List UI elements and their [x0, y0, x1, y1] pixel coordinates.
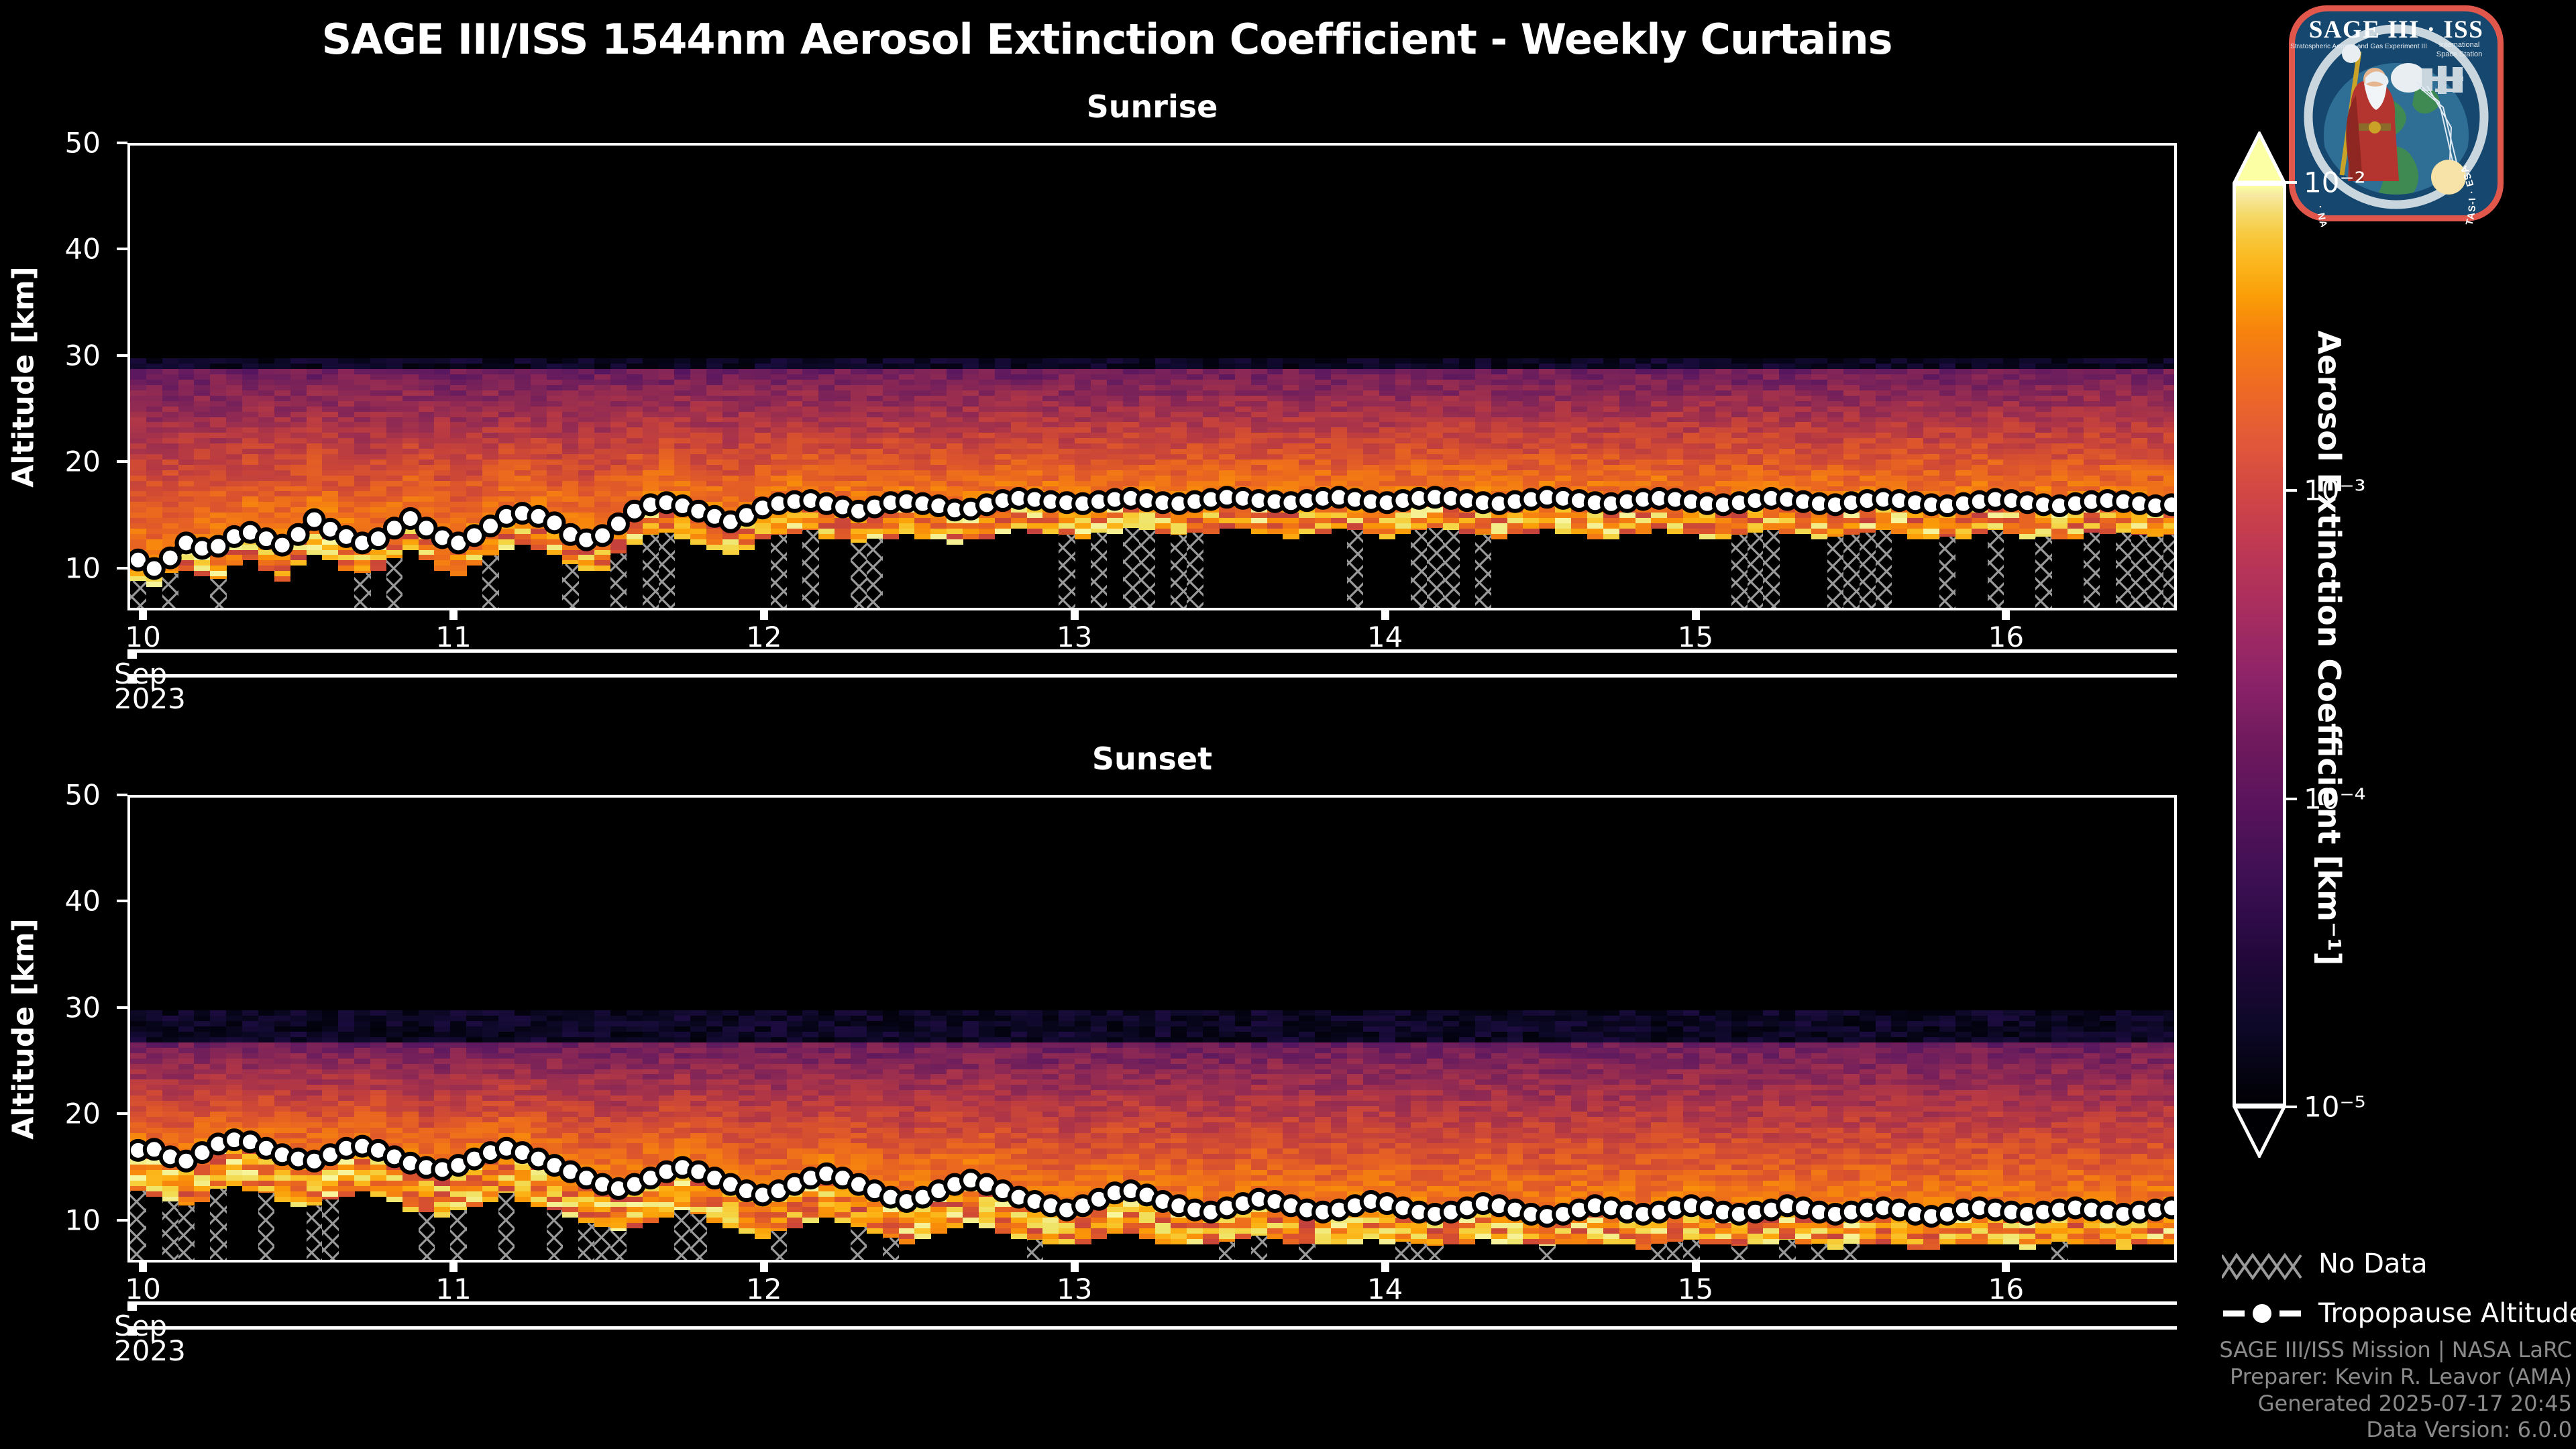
- y-tick-label: 50: [27, 127, 101, 160]
- y-tick-label: 10: [27, 551, 101, 584]
- y-tick-label: 30: [27, 991, 101, 1024]
- x-month-band-line: [127, 649, 2177, 653]
- y-tick-mark: [117, 142, 127, 144]
- patch-title: SAGE III · ISS: [2309, 16, 2484, 44]
- patch-subtitle-right-1: International: [2439, 41, 2480, 49]
- x-tick-label: 10: [125, 621, 160, 653]
- panel-title-sunset: Sunset: [127, 741, 2177, 777]
- y-tick-label: 20: [27, 445, 101, 478]
- y-tick-label: 40: [27, 885, 101, 918]
- y-tick-label: 40: [27, 233, 101, 266]
- x-tick-mark: [2002, 609, 2010, 620]
- y-tick-label: 10: [27, 1203, 101, 1236]
- tropopause-series: [130, 146, 2177, 610]
- page-title: SAGE III/ISS 1544nm Aerosol Extinction C…: [0, 15, 2214, 64]
- y-tick-mark: [117, 1112, 127, 1115]
- y-tick-mark: [117, 900, 127, 902]
- x-year-band-line: [127, 674, 2177, 678]
- patch-subtitle-left: Stratospheric Aerosol and Gas Experiment…: [2290, 43, 2427, 50]
- panel-title-sunrise: Sunrise: [127, 89, 2177, 125]
- x-tick-label: 12: [746, 621, 782, 653]
- x-tick-mark: [1071, 609, 1079, 620]
- x-tick-mark: [760, 609, 768, 620]
- y-tick-label: 20: [27, 1097, 101, 1130]
- x-tick-label: 14: [1367, 621, 1403, 653]
- x-tick-label: 15: [1678, 621, 1713, 653]
- x-tick-label: 16: [1988, 621, 2024, 653]
- y-tick-mark: [117, 794, 127, 796]
- tropopause-marker: [161, 549, 180, 568]
- tropopause-marker: [2162, 495, 2177, 514]
- y-tick-mark: [117, 248, 127, 250]
- x-tick-mark: [139, 609, 147, 620]
- x-tick-label: 13: [1057, 621, 1092, 653]
- x-year-band-label: 2023: [114, 682, 186, 715]
- x-tick-mark: [449, 609, 458, 620]
- y-tick-mark: [117, 460, 127, 463]
- plot-area-sunset: [127, 795, 2177, 1263]
- y-tick-label: 30: [27, 339, 101, 372]
- patch-subtitle-right-2: Space Station: [2436, 50, 2483, 58]
- plot-area-sunrise: [127, 143, 2177, 610]
- y-tick-mark: [117, 1219, 127, 1222]
- x-tick-label: 11: [435, 621, 471, 653]
- x-tick-mark: [1692, 609, 1700, 620]
- y-tick-label: 50: [27, 779, 101, 812]
- tropopause-marker: [289, 525, 308, 544]
- y-tick-mark: [117, 1006, 127, 1009]
- y-tick-mark: [117, 567, 127, 570]
- y-tick-mark: [117, 354, 127, 357]
- x-tick-mark: [1381, 609, 1389, 620]
